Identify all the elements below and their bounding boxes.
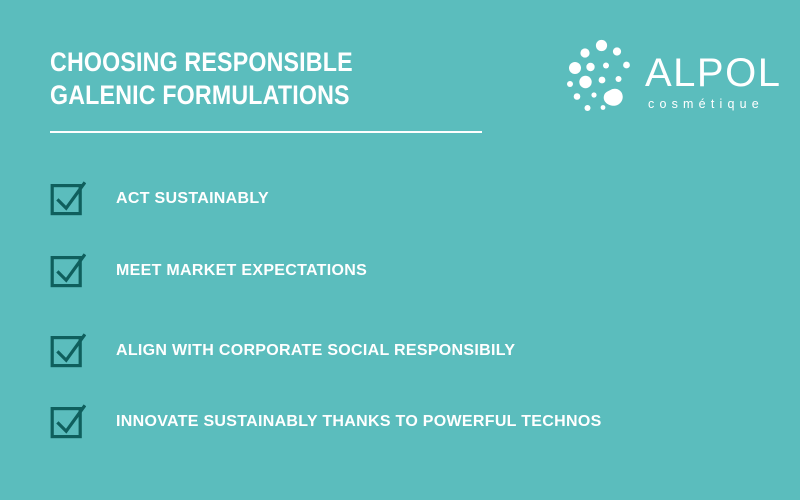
checklist-item-label: INNOVATE SUSTAINABLY THANKS TO POWERFUL … <box>116 413 602 431</box>
brand-tagline: cosmétique <box>648 96 765 112</box>
checklist-item-label: ACT SUSTAINABLY <box>116 190 269 208</box>
checklist-item-label: ALIGN WITH CORPORATE SOCIAL RESPONSIBILY <box>116 342 515 360</box>
page-title-line-2: GALENIC FORMULATIONS <box>50 79 454 112</box>
checkbox-checked-icon[interactable] <box>50 404 86 440</box>
checklist-item[interactable]: INNOVATE SUSTAINABLY THANKS TO POWERFUL … <box>50 403 602 441</box>
checklist-item[interactable]: ALIGN WITH CORPORATE SOCIAL RESPONSIBILY <box>50 332 515 370</box>
brand-name: ALPOL <box>645 52 765 94</box>
brand-logo: ALPOL cosmétique <box>565 38 765 123</box>
bubble-cluster-icon <box>565 38 643 120</box>
checklist-item[interactable]: ACT SUSTAINABLY <box>50 180 269 218</box>
page-title-line-1: CHOOSING RESPONSIBLE <box>50 46 454 79</box>
brand-wordmark: ALPOL cosmétique <box>645 52 765 112</box>
checkbox-checked-icon[interactable] <box>50 333 86 369</box>
checkbox-checked-icon[interactable] <box>50 253 86 289</box>
checklist-item-label: MEET MARKET EXPECTATIONS <box>116 262 367 280</box>
checkbox-checked-icon[interactable] <box>50 181 86 217</box>
page-title: CHOOSING RESPONSIBLE GALENIC FORMULATION… <box>50 46 520 112</box>
title-divider <box>50 131 482 133</box>
slide-canvas: CHOOSING RESPONSIBLE GALENIC FORMULATION… <box>0 0 800 500</box>
checklist-item[interactable]: MEET MARKET EXPECTATIONS <box>50 252 367 290</box>
